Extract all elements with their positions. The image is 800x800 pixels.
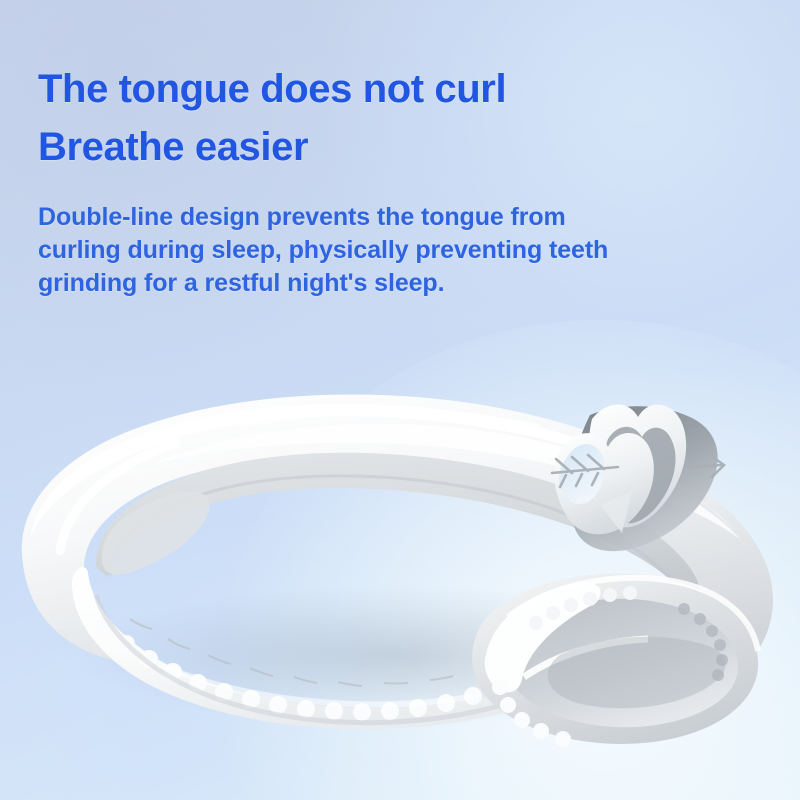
headline-line-1: The tongue does not curl <box>38 60 738 118</box>
device-mouth-tray <box>472 573 758 747</box>
description-line-3: grinding for a restful night's sleep. <box>38 267 738 300</box>
headline-line-2: Breathe easier <box>38 118 738 176</box>
description-line-1: Double-line design prevents the tongue f… <box>38 201 738 234</box>
description-text: Double-line design prevents the tongue f… <box>38 201 738 300</box>
poster-canvas: The tongue does not curl Breathe easier … <box>0 0 800 800</box>
description-line-2: curling during sleep, physically prevent… <box>38 234 738 267</box>
product-image-anti-snoring-mouthpiece <box>0 355 800 755</box>
copy-block: The tongue does not curl Breathe easier … <box>38 60 738 300</box>
page-title: The tongue does not curl Breathe easier <box>38 60 738 176</box>
